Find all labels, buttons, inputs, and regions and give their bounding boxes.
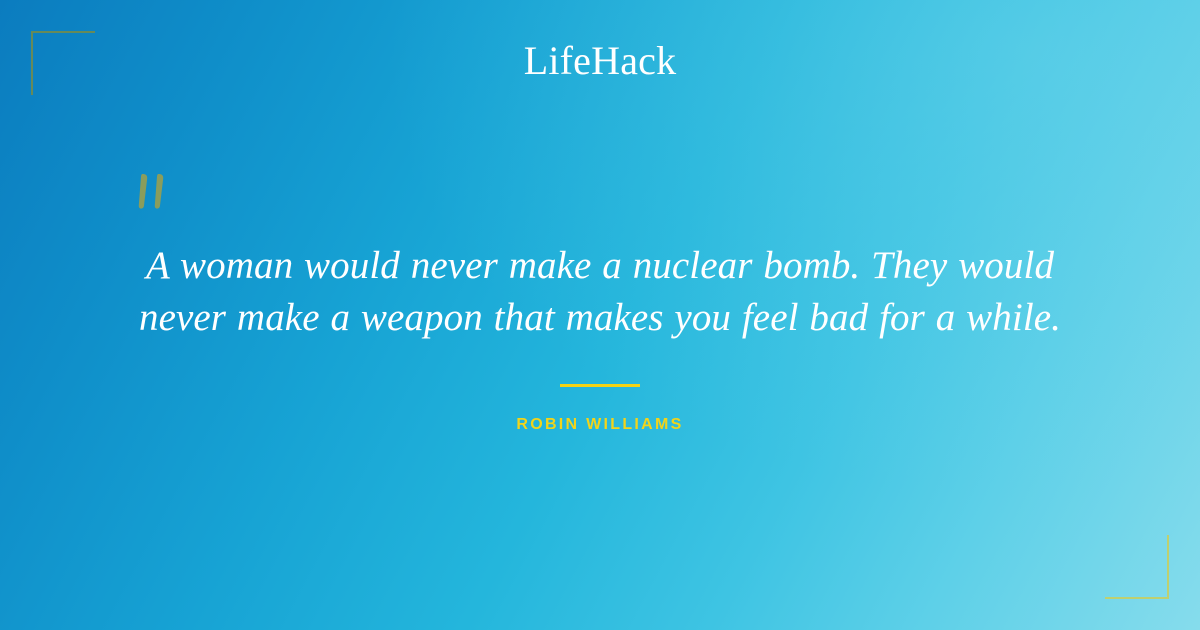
- quote-card: LifeHack A woman would never make a nucl…: [0, 0, 1200, 630]
- quote-text: A woman would never make a nuclear bomb.…: [100, 240, 1100, 344]
- attribution-divider: [560, 384, 640, 387]
- lifehack-logo: LifeHack: [0, 38, 1200, 84]
- quote-author: ROBIN WILLIAMS: [0, 415, 1200, 435]
- quotation-mark-icon: [134, 172, 180, 216]
- corner-bracket-icon-bottom-right: [1105, 535, 1169, 599]
